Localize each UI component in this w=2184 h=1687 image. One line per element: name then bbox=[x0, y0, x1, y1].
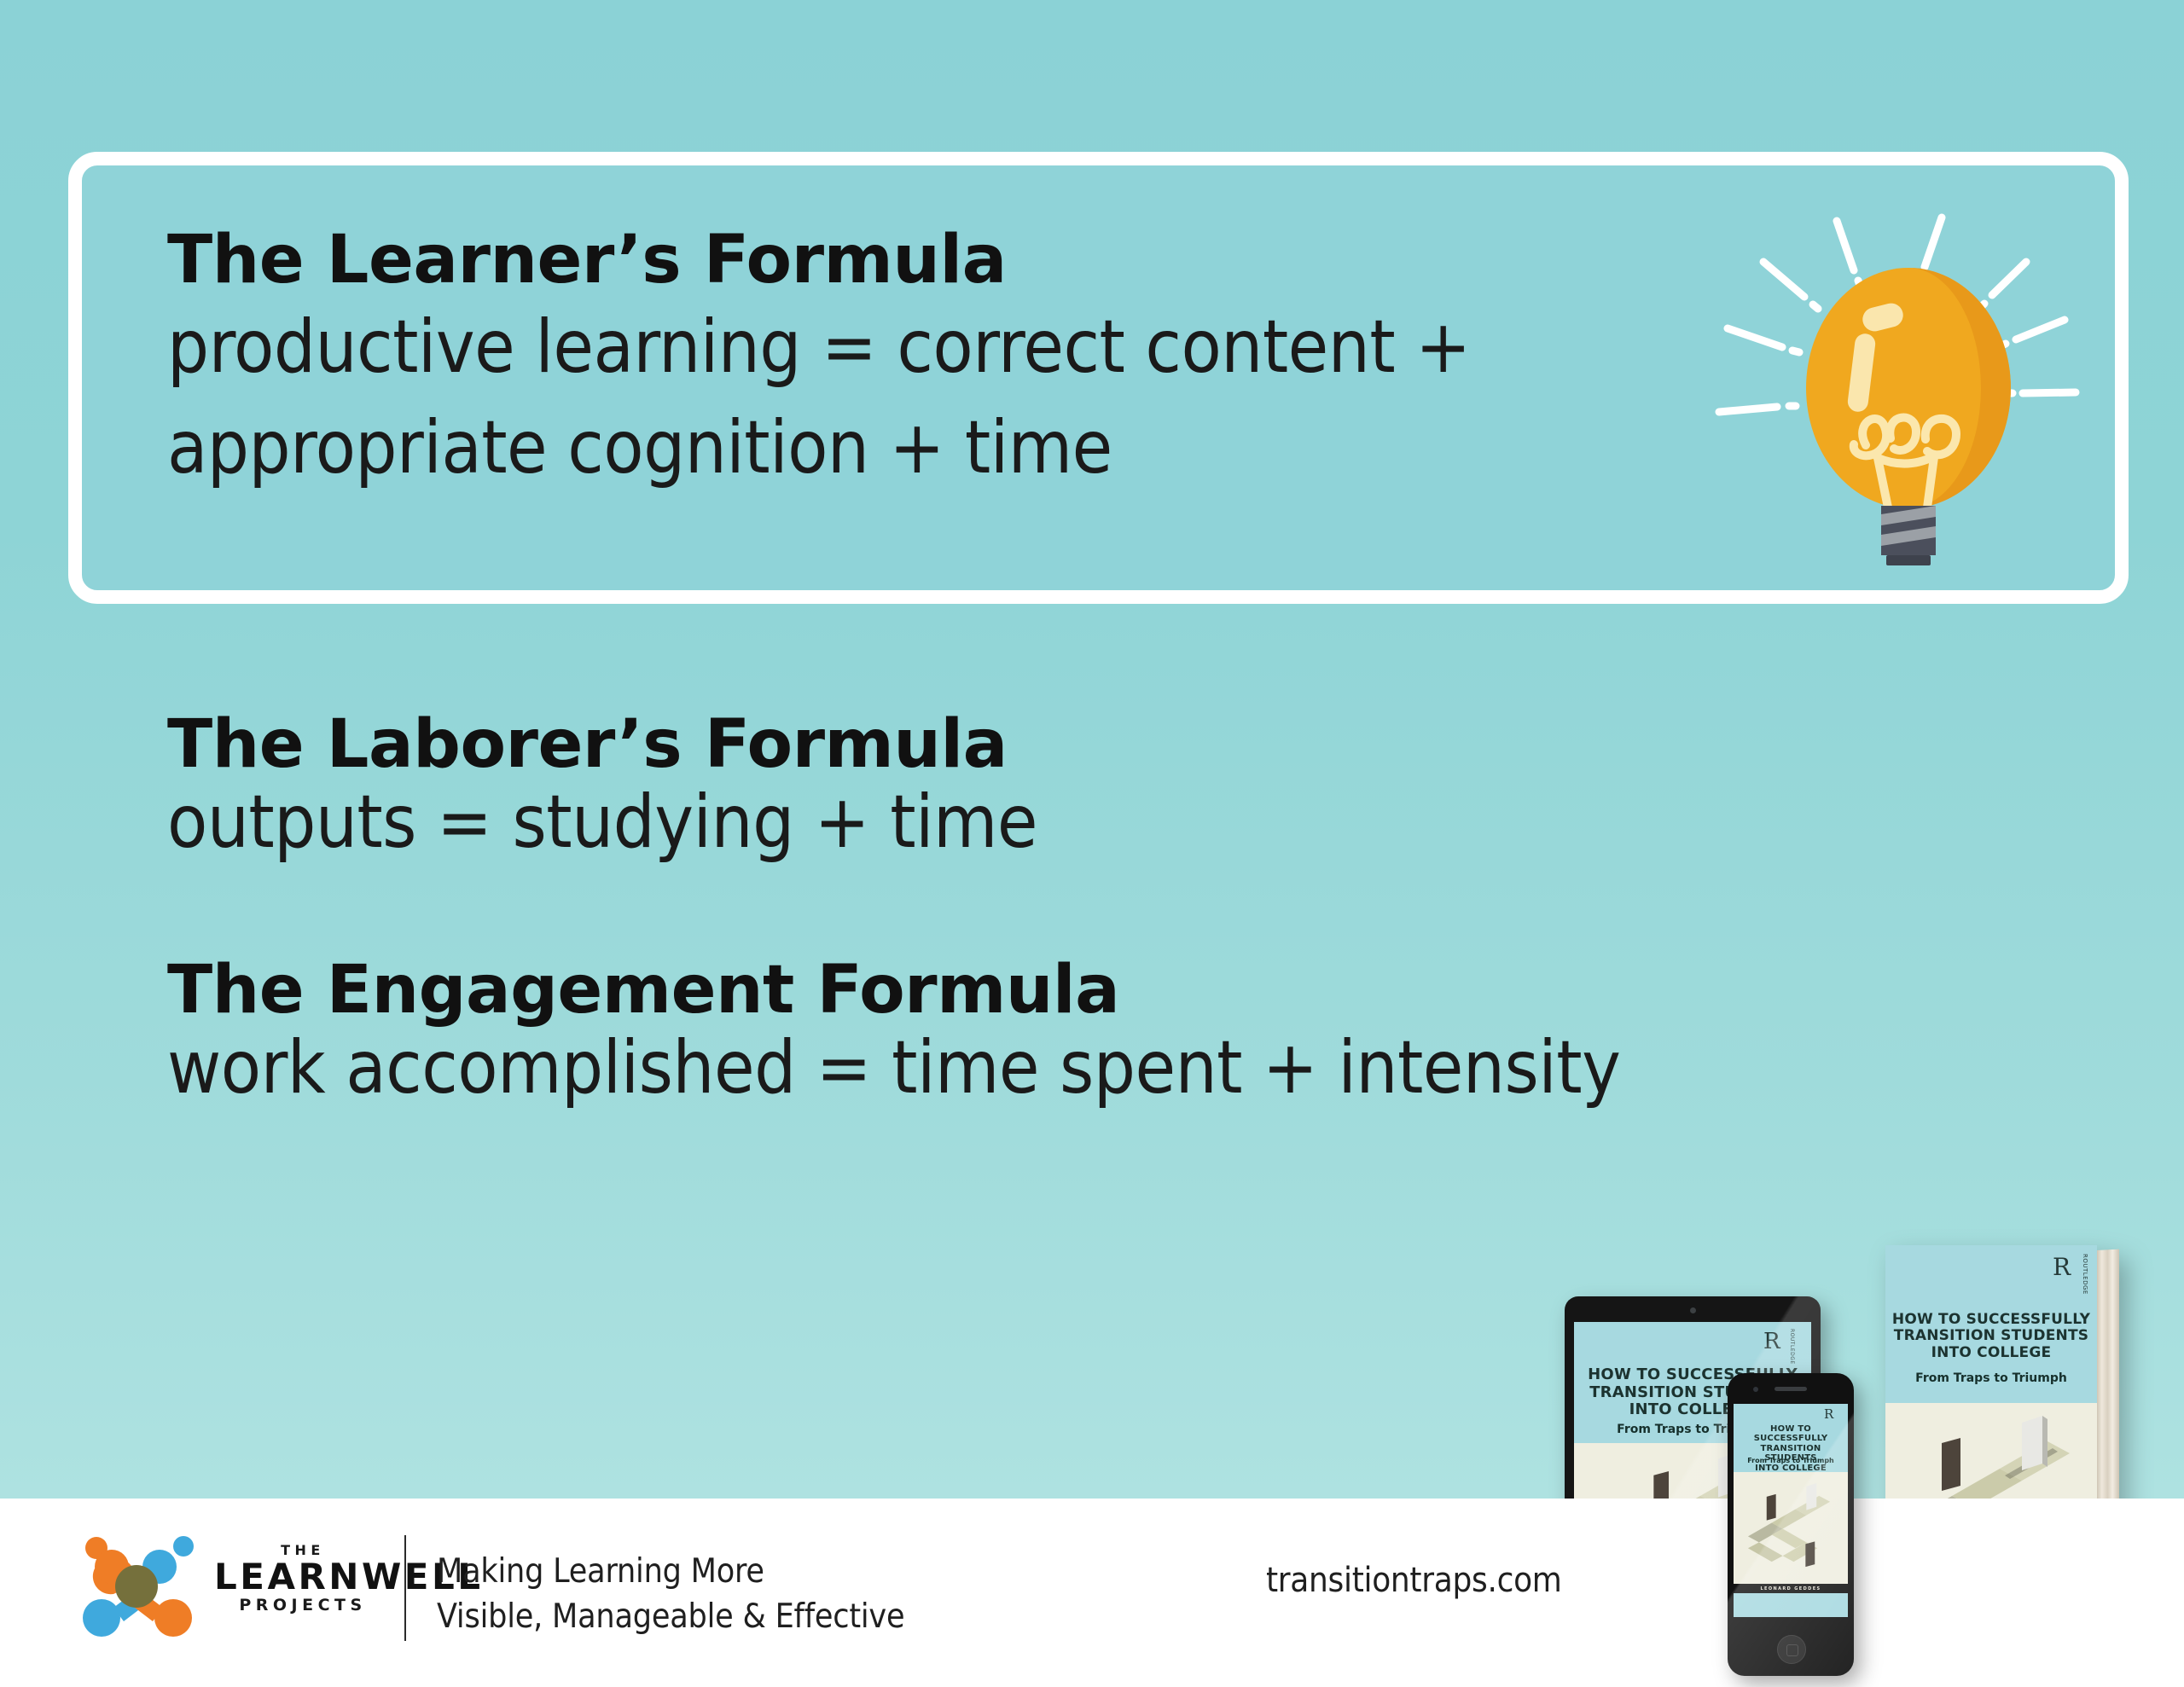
phone-book-title-line-3: INTO COLLEGE bbox=[1734, 1464, 1848, 1473]
phone-screen: R HOW TO SUCCESSFULLY TRANSITION STUDENT… bbox=[1734, 1404, 1848, 1617]
footer-tagline-line-1: Making Learning More bbox=[437, 1549, 904, 1594]
learners-formula-title: The Learner’s Formula bbox=[167, 227, 1007, 293]
learners-formula-body-line-1: productive learning = correct content + bbox=[167, 310, 1471, 384]
tablet-routledge-wordmark-wrap: ROUTLEDGE bbox=[1789, 1329, 1794, 1365]
footer-divider bbox=[404, 1535, 406, 1641]
learnwell-logo-mark-icon bbox=[81, 1533, 205, 1642]
phone-routledge-monogram: R bbox=[1824, 1408, 1833, 1421]
routledge-wordmark: ROUTLEDGE bbox=[2082, 1254, 2088, 1295]
phone-routledge-logo: R bbox=[1824, 1408, 1833, 1421]
website-url[interactable]: transitiontraps.com bbox=[1266, 1561, 1562, 1600]
laborers-formula-body: outputs = studying + time bbox=[167, 784, 1037, 861]
footer-tagline-line-2: Visible, Manageable & Effective bbox=[437, 1594, 904, 1639]
logo-projects-text: PROJECTS bbox=[215, 1596, 391, 1615]
phone-device: R HOW TO SUCCESSFULLY TRANSITION STUDENT… bbox=[1728, 1373, 1854, 1676]
phone-book-title-line-1: HOW TO SUCCESSFULLY bbox=[1734, 1424, 1848, 1444]
phone-speaker-icon bbox=[1774, 1387, 1807, 1391]
slide-root: The Learner’s Formula productive learnin… bbox=[0, 0, 2184, 1687]
lightbulb-icon bbox=[1711, 183, 2120, 584]
phone-cover-foot-band bbox=[1734, 1593, 1848, 1617]
logo-learnwell-text: LEARNWELL bbox=[214, 1558, 391, 1596]
engagement-formula-body: work accomplished = time spent + intensi… bbox=[167, 1029, 1620, 1107]
engagement-formula-title: The Engagement Formula bbox=[167, 955, 1620, 1026]
book-title-line-3: INTO COLLEGE bbox=[1885, 1345, 2097, 1361]
book-title-line-1: HOW TO SUCCESSFULLY bbox=[1885, 1312, 2097, 1328]
tablet-routledge-wordmark: ROUTLEDGE bbox=[1789, 1329, 1794, 1365]
phone-home-button bbox=[1777, 1635, 1806, 1664]
engagement-formula-block: The Engagement Formula work accomplished… bbox=[167, 955, 1620, 1107]
phone-cover-maze-art bbox=[1742, 1475, 1840, 1580]
phone-book-title-lines: HOW TO SUCCESSFULLY TRANSITION STUDENTS … bbox=[1734, 1424, 1848, 1473]
phone-book-subtitle: From Traps to Triumph bbox=[1734, 1457, 1848, 1464]
tablet-routledge-monogram: R bbox=[1763, 1330, 1780, 1353]
routledge-logo: R bbox=[2053, 1255, 2071, 1279]
tablet-routledge-logo: R bbox=[1763, 1330, 1780, 1353]
tablet-camera-icon bbox=[1690, 1307, 1696, 1313]
routledge-monogram: R bbox=[2053, 1255, 2071, 1279]
routledge-wordmark-wrap: ROUTLEDGE bbox=[2082, 1254, 2088, 1295]
learners-formula-body-line-2: appropriate cognition + time bbox=[167, 411, 1112, 484]
book-subtitle: From Traps to Triumph bbox=[1885, 1371, 2097, 1385]
learnwell-logo-wordmark: THE LEARNWELL PROJECTS bbox=[212, 1542, 391, 1615]
phone-camera-icon bbox=[1753, 1387, 1758, 1392]
book-title-line-2: TRANSITION STUDENTS bbox=[1885, 1328, 2097, 1344]
phone-book-author: LEONARD GEDDES bbox=[1734, 1586, 1848, 1591]
laborers-formula-title: The Laborer’s Formula bbox=[167, 710, 1037, 780]
footer-tagline: Making Learning More Visible, Manageable… bbox=[437, 1549, 904, 1639]
laborers-formula-block: The Laborer’s Formula outputs = studying… bbox=[167, 710, 1037, 861]
book-title-lines: HOW TO SUCCESSFULLY TRANSITION STUDENTS … bbox=[1885, 1312, 2097, 1361]
